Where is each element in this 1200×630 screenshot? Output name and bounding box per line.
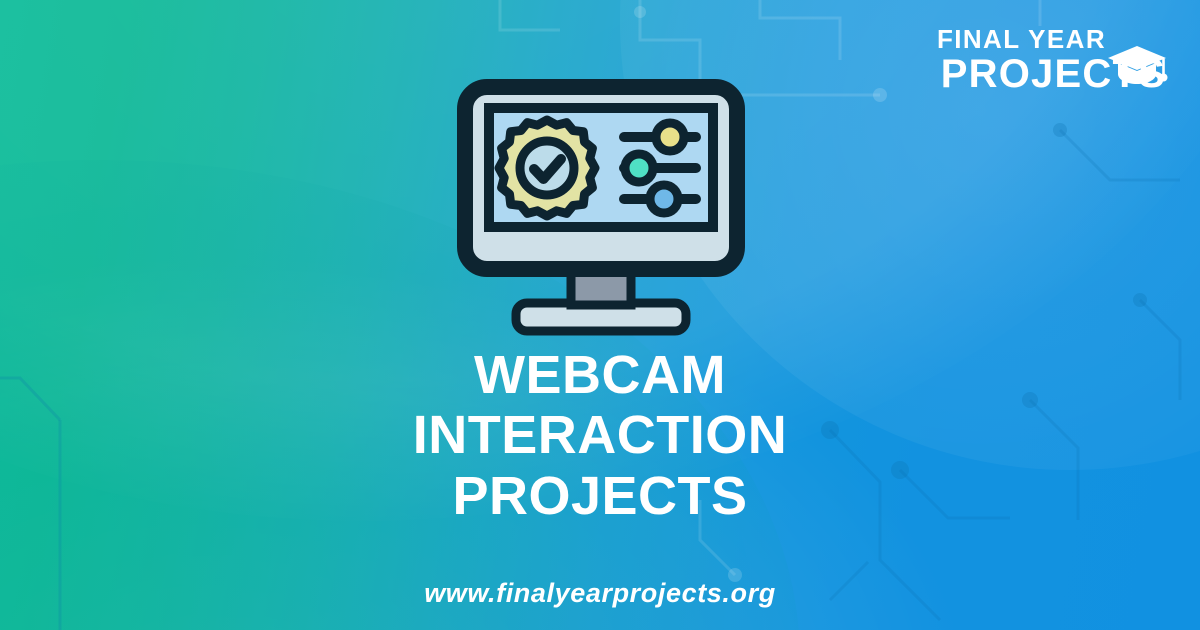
page-title: WEBCAM INTERACTION PROJECTS bbox=[0, 345, 1200, 526]
promo-banner: FINAL YEAR PROJECTS bbox=[0, 0, 1200, 630]
brand-logo[interactable]: FINAL YEAR PROJECTS bbox=[937, 26, 1166, 94]
title-line-3: PROJECTS bbox=[0, 466, 1200, 526]
website-url[interactable]: www.finalyearprojects.org bbox=[0, 578, 1200, 609]
title-line-2: INTERACTION bbox=[0, 405, 1200, 465]
graduation-cap-icon bbox=[1106, 44, 1168, 88]
desktop-monitor-settings-icon bbox=[456, 78, 746, 338]
title-line-1: WEBCAM bbox=[0, 345, 1200, 405]
